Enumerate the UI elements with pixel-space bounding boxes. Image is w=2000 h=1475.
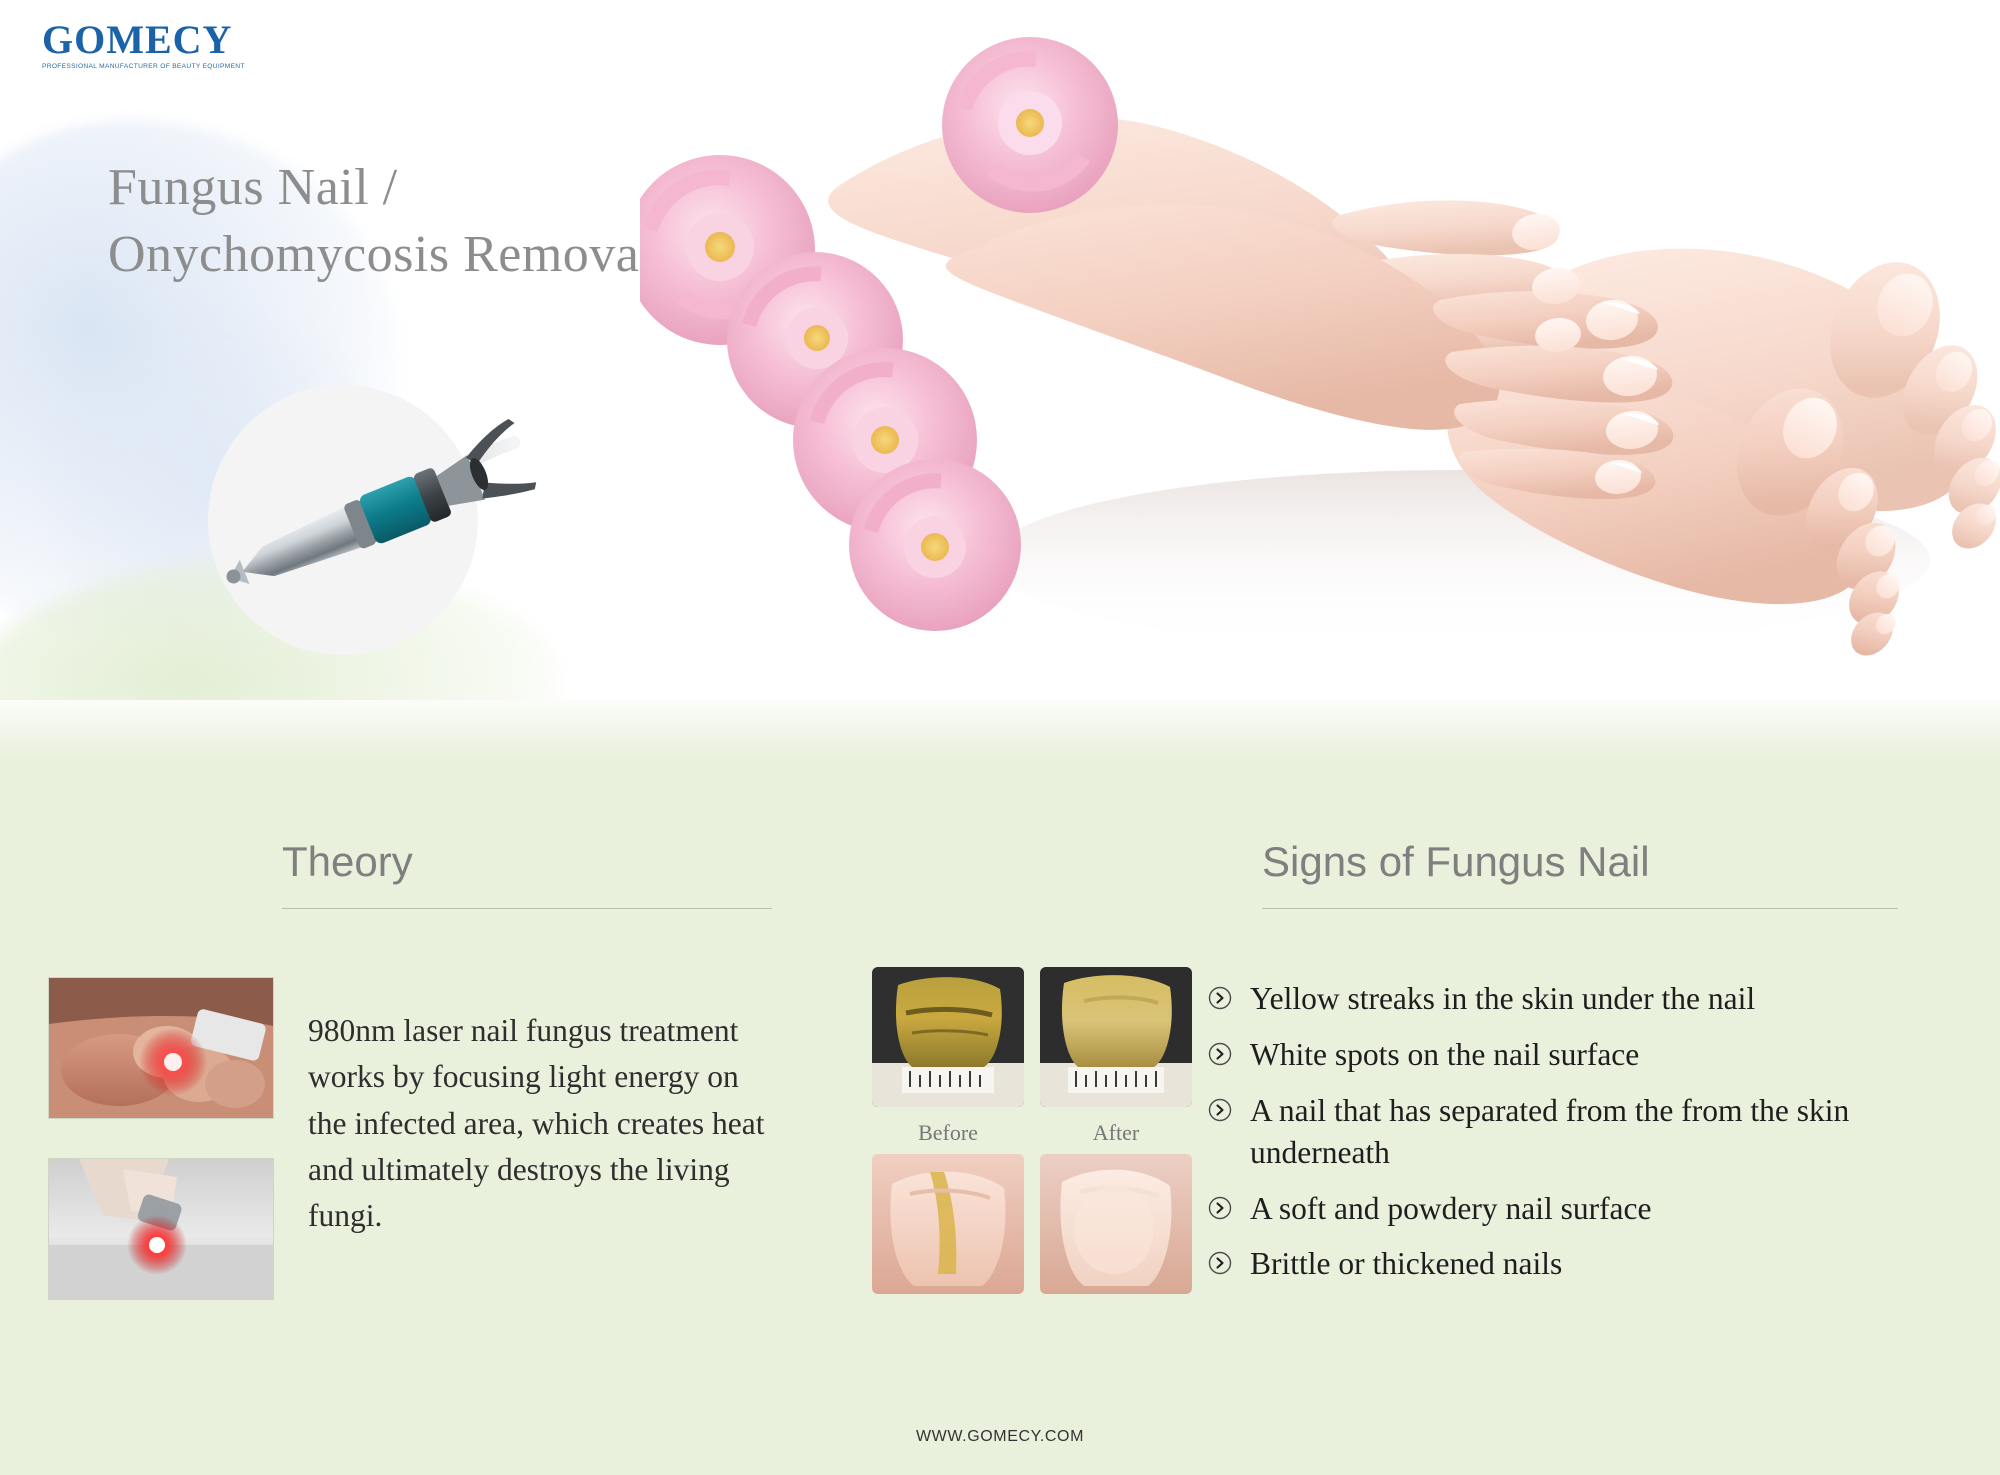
- theory-body-text: 980nm laser nail fungus treatment works …: [308, 1008, 776, 1239]
- page-title-line-1: Fungus Nail /: [108, 155, 654, 222]
- chevron-circle-icon: [1208, 1042, 1232, 1071]
- sign-text: Yellow streaks in the skin under the nai…: [1250, 978, 1755, 1020]
- sign-text: Brittle or thickened nails: [1250, 1243, 1562, 1285]
- before-after-image-4: [1040, 1154, 1192, 1294]
- laser-handpiece-image: [200, 400, 580, 620]
- after-label: After: [1040, 1120, 1192, 1146]
- brand-tagline: PROFESSIONAL MANUFACTURER OF BEAUTY EQUI…: [42, 63, 287, 70]
- page-title: Fungus Nail / Onychomycosis Removal: [108, 155, 654, 288]
- signs-title-rule: [1262, 908, 1898, 909]
- list-item: Brittle or thickened nails: [1208, 1243, 1908, 1285]
- signs-column-header: Signs of Fungus Nail: [1262, 838, 1898, 909]
- list-item: Yellow streaks in the skin under the nai…: [1208, 978, 1908, 1020]
- list-item: White spots on the nail surface: [1208, 1034, 1908, 1076]
- page-title-line-2: Onychomycosis Removal: [108, 222, 654, 289]
- brand-logo-wordmark: GOMECY: [42, 20, 282, 60]
- list-item: A soft and powdery nail surface: [1208, 1188, 1908, 1230]
- before-after-image-3: [872, 1154, 1024, 1294]
- section-fade: [0, 700, 2000, 760]
- list-item: A nail that has separated from the from …: [1208, 1090, 1908, 1174]
- chevron-circle-icon: [1208, 1196, 1232, 1225]
- theory-title: Theory: [282, 838, 772, 886]
- theory-title-rule: [282, 908, 772, 909]
- brand-logo-text: GOMECY: [42, 17, 232, 62]
- before-label: Before: [872, 1120, 1024, 1146]
- sign-text: White spots on the nail surface: [1250, 1034, 1639, 1076]
- chevron-circle-icon: [1208, 1251, 1232, 1280]
- sign-text: A soft and powdery nail surface: [1250, 1188, 1652, 1230]
- brand-logo[interactable]: GOMECY PROFESSIONAL MANUFACTURER OF BEAU…: [42, 20, 282, 70]
- hero-section: GOMECY PROFESSIONAL MANUFACTURER OF BEAU…: [0, 0, 2000, 700]
- theory-thumbnail-1: [48, 977, 274, 1119]
- chevron-circle-icon: [1208, 1098, 1232, 1127]
- sign-text: A nail that has separated from the from …: [1250, 1090, 1908, 1174]
- before-after-image-1: [872, 967, 1024, 1107]
- footer-url[interactable]: WWW.GOMECY.COM: [0, 1428, 2000, 1446]
- hero-photo: [640, 0, 2000, 700]
- chevron-circle-icon: [1208, 986, 1232, 1015]
- signs-list: Yellow streaks in the skin under the nai…: [1208, 978, 1908, 1299]
- theory-column-header: Theory: [282, 838, 772, 909]
- before-after-image-2: [1040, 967, 1192, 1107]
- theory-thumbnail-2: [48, 1158, 274, 1300]
- signs-title: Signs of Fungus Nail: [1262, 838, 1898, 886]
